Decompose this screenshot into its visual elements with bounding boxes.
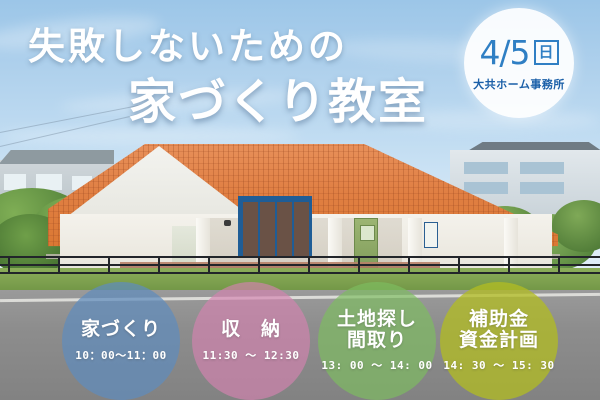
- fence-post: [308, 256, 310, 274]
- session-circle-land-search[interactable]: 土地探し 間取り 13: 00 〜 14: 00: [318, 282, 436, 400]
- badge-date-number: 4/5: [479, 36, 529, 69]
- fence-post: [358, 256, 360, 274]
- fence-post: [458, 256, 460, 274]
- fence-post: [8, 256, 10, 274]
- fence-rail: [0, 272, 600, 274]
- metal-fence: [0, 256, 600, 274]
- fence-post: [158, 256, 160, 274]
- session-circle-subsidy[interactable]: 補助金 資金計画 14: 30 〜 15: 30: [440, 282, 558, 400]
- fence-post: [558, 256, 560, 274]
- badge-company-name: 大共ホーム事務所: [473, 76, 565, 92]
- session-title: 土地探し: [337, 309, 417, 330]
- badge-weekday-box: 日: [534, 40, 559, 65]
- fence-post: [58, 256, 60, 274]
- fence-post: [258, 256, 260, 274]
- fence-post: [408, 256, 410, 274]
- session-time: 14: 30 〜 15: 30: [443, 357, 554, 373]
- door-pane: [294, 202, 309, 258]
- small-window: [424, 222, 438, 248]
- blue-french-door: [238, 196, 312, 258]
- session-title: 家づくり: [81, 319, 161, 340]
- session-time: 10：00〜11：00: [75, 347, 166, 363]
- session-circle-house-building[interactable]: 家づくり 10：00〜11：00: [62, 282, 180, 400]
- poster-canvas: 失敗しないための 家づくり教室 4/5 日 大共ホーム事務所 家づくり 10：0…: [0, 0, 600, 400]
- session-title: 収 納: [221, 319, 281, 340]
- date-badge: 4/5 日 大共ホーム事務所: [464, 8, 574, 118]
- session-title: 補助金: [469, 309, 529, 330]
- door-pane: [243, 202, 258, 258]
- exterior-lamp-icon: [224, 220, 231, 226]
- fence-post: [508, 256, 510, 274]
- session-time: 11:30 〜 12:30: [203, 347, 300, 363]
- fence-post: [108, 256, 110, 274]
- session-circle-storage[interactable]: 収 納 11:30 〜 12:30: [192, 282, 310, 400]
- session-circle-group: 家づくり 10：00〜11：00 収 納 11:30 〜 12:30 土地探し …: [0, 282, 600, 400]
- fence-rail: [0, 264, 600, 266]
- door-pane: [260, 202, 275, 258]
- fence-post: [208, 256, 210, 274]
- fence-rail: [0, 256, 600, 258]
- session-title-second-line: 資金計画: [459, 330, 539, 351]
- session-title-second-line: 間取り: [347, 330, 407, 351]
- badge-date-row: 4/5 日: [479, 36, 558, 69]
- door-pane: [277, 202, 292, 258]
- session-time: 13: 00 〜 14: 00: [321, 357, 432, 373]
- headline-line-2: 家づくり教室: [128, 62, 428, 132]
